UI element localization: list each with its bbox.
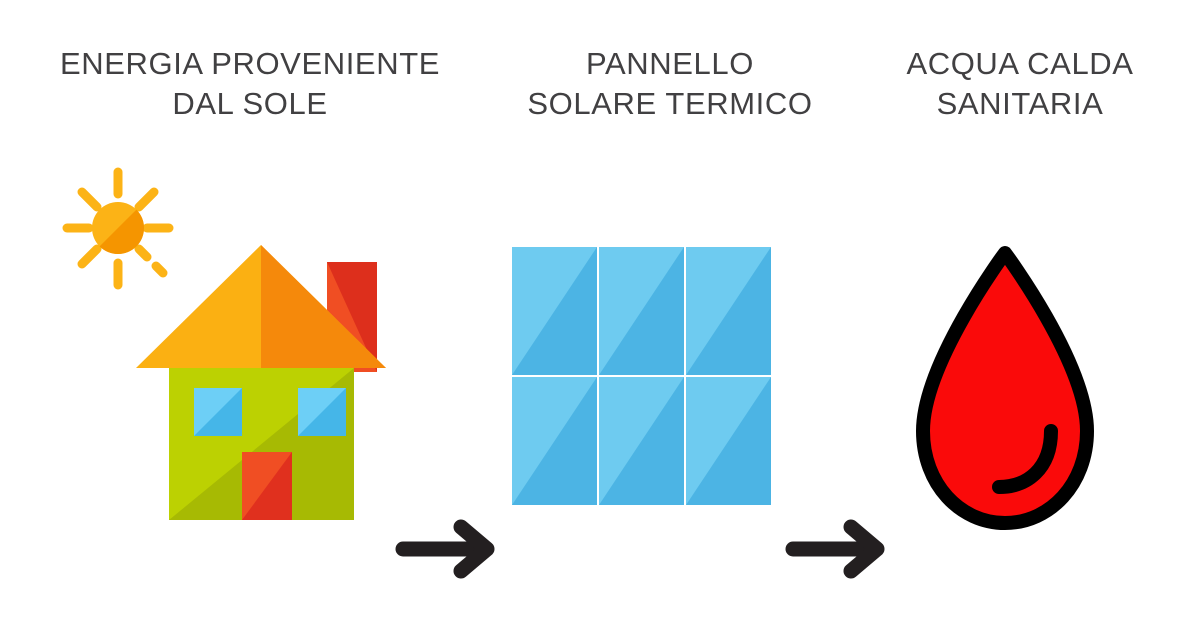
heading-solar-panel: PANNELLO SOLARE TERMICO (500, 44, 840, 124)
hot-water-drop-icon (905, 245, 1105, 535)
panel-cell-r1c2 (599, 247, 684, 375)
heading-sun-energy: ENERGIA PROVENIENTE DAL SOLE (0, 44, 500, 124)
window-left-icon (194, 388, 242, 436)
sun-icon (67, 172, 169, 285)
panel-cell-r2c3 (686, 377, 771, 505)
house-with-sun-icon (55, 160, 395, 530)
door-icon (242, 452, 292, 520)
arrow-right-icon-2 (785, 518, 895, 578)
heading-hot-water: ACQUA CALDA SANITARIA (840, 44, 1200, 124)
arrow-right-icon-1 (395, 518, 505, 578)
panel-cell-r1c3 (686, 247, 771, 375)
headings-row: ENERGIA PROVENIENTE DAL SOLE PANNELLO SO… (0, 44, 1200, 144)
panel-cell-r1c1 (512, 247, 597, 375)
solar-thermal-infographic: ENERGIA PROVENIENTE DAL SOLE PANNELLO SO… (0, 0, 1200, 628)
panel-cell-r2c2 (599, 377, 684, 505)
illustration-row (0, 150, 1200, 570)
panel-cell-r2c1 (512, 377, 597, 505)
solar-thermal-panel-icon (510, 245, 790, 520)
window-right-icon (298, 388, 346, 436)
